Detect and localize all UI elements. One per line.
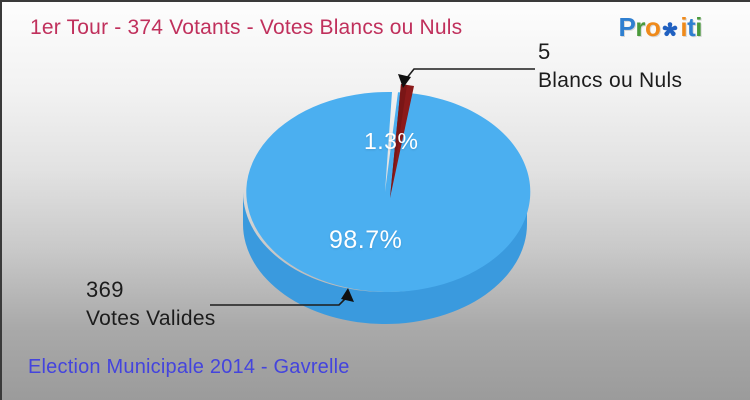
callout-blancs-ou-nuls: 5 Blancs ou Nuls <box>538 40 682 92</box>
callout-valides-label: Votes Valides <box>86 308 216 331</box>
callout-blancs-label: Blancs ou Nuls <box>538 70 682 93</box>
pie-chart-figure: 1er Tour - 374 Votants - Votes Blancs ou… <box>0 0 750 400</box>
footer-caption: Election Municipale 2014 - Gavrelle <box>28 356 350 379</box>
slice-label-valides-percent: 98.7% <box>329 226 402 255</box>
callout-votes-valides: 369 Votes Valides <box>86 278 216 330</box>
pie-slice-valides[interactable] <box>246 92 530 292</box>
callout-valides-value: 369 <box>86 278 216 302</box>
slice-label-blancs-percent: 1.3% <box>364 128 418 155</box>
leader-line-blancs <box>398 69 535 88</box>
callout-blancs-value: 5 <box>538 40 682 64</box>
